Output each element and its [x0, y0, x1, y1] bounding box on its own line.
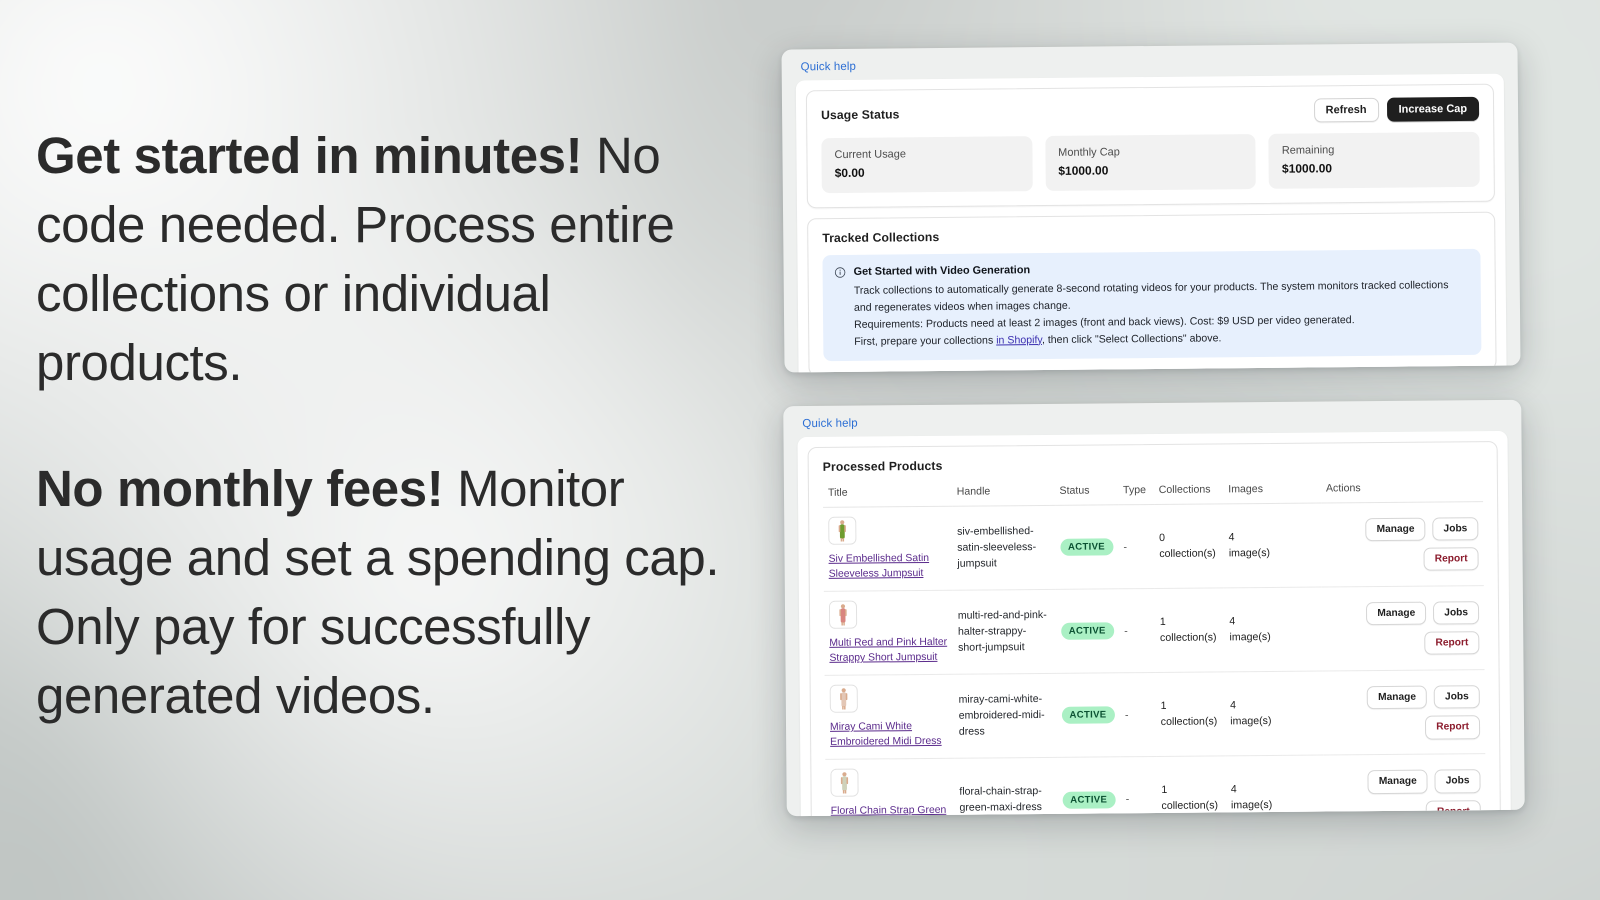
- cell-handle: miray-cami-white-embroidered-midi-dress: [953, 674, 1057, 759]
- column-header-actions: Actions: [1321, 474, 1483, 503]
- collections-count: 0 collection(s): [1159, 532, 1216, 560]
- product-title-link[interactable]: Multi Red and Pink Halter Strappy Short …: [829, 635, 948, 666]
- shopify-link[interactable]: in Shopify: [996, 334, 1042, 346]
- cell-images: 4 image(s): [1226, 756, 1284, 816]
- info-circle-icon: [835, 265, 846, 283]
- row-actions: ManageJobsReport: [1326, 517, 1478, 572]
- banner-line-3-before: First, prepare your collections: [854, 334, 996, 347]
- jobs-button[interactable]: Jobs: [1434, 685, 1480, 709]
- tracked-collections-card: Tracked Collections Get Started with Vid…: [807, 212, 1496, 373]
- product-thumbnail[interactable]: [830, 769, 858, 797]
- increase-cap-button[interactable]: Increase Cap: [1386, 97, 1479, 122]
- cell-images: 4 image(s): [1225, 672, 1283, 757]
- usage-status-actions: Refresh Increase Cap: [1314, 97, 1480, 123]
- column-header-collections[interactable]: Collections: [1154, 476, 1224, 504]
- table-row: Siv Embellished Satin Sleeveless Jumpsui…: [823, 502, 1484, 592]
- table-row: Miray Cami White Embroidered Midi Dressm…: [825, 670, 1486, 760]
- column-header-spacer: [1280, 476, 1321, 504]
- usage-status-title: Usage Status: [821, 107, 900, 122]
- products-sheet: Processed Products Title Handle Status T…: [797, 431, 1511, 816]
- images-count: 4 image(s): [1230, 699, 1271, 727]
- report-button[interactable]: Report: [1424, 631, 1479, 655]
- jobs-button[interactable]: Jobs: [1432, 517, 1478, 541]
- manage-button[interactable]: Manage: [1367, 686, 1427, 710]
- cell-spacer: [1282, 671, 1323, 756]
- product-handle: floral-chain-strap-green-maxi-dress: [959, 785, 1042, 814]
- screenshot-stage: Get started in minutes! No code needed. …: [0, 0, 1600, 900]
- stat-label-current-usage: Current Usage: [834, 147, 1019, 161]
- cell-actions: ManageJobsReport: [1323, 754, 1486, 816]
- stat-label-remaining: Remaining: [1282, 143, 1467, 157]
- stat-remaining: Remaining $1000.00: [1269, 132, 1480, 189]
- banner-body: Get Started with Video Generation Track …: [854, 258, 1470, 350]
- cell-handle: siv-embellished-satin-sleeveless-jumpsui…: [952, 505, 1056, 590]
- product-title-link[interactable]: Siv Embellished Satin Sleeveless Jumpsui…: [828, 551, 947, 582]
- quick-help-link-top[interactable]: Quick help: [801, 55, 1504, 74]
- cell-title: Miray Cami White Embroidered Midi Dress: [825, 675, 954, 760]
- usage-status-card: Usage Status Refresh Increase Cap Curren…: [806, 84, 1495, 209]
- marketing-paragraph-1: Get started in minutes! No code needed. …: [36, 122, 766, 397]
- cell-status: ACTIVE: [1055, 589, 1119, 674]
- manage-button[interactable]: Manage: [1366, 602, 1426, 626]
- product-title-link[interactable]: Miray Cami White Embroidered Midi Dress: [830, 719, 949, 750]
- usage-sheet: Usage Status Refresh Increase Cap Curren…: [796, 74, 1507, 373]
- marketing-lead-1: Get started in minutes!: [36, 127, 582, 184]
- cell-actions: ManageJobsReport: [1321, 502, 1484, 588]
- jobs-button[interactable]: Jobs: [1435, 769, 1481, 793]
- cell-title: Floral Chain Strap Green Maxi Dress: [825, 759, 954, 816]
- cell-spacer: [1281, 587, 1322, 672]
- jobs-button[interactable]: Jobs: [1433, 601, 1479, 625]
- cell-collections: 1 collection(s): [1156, 756, 1226, 816]
- report-button[interactable]: Report: [1424, 547, 1479, 571]
- stat-value-remaining: $1000.00: [1282, 160, 1467, 176]
- stat-value-monthly-cap: $1000.00: [1058, 162, 1243, 178]
- processed-products-title: Processed Products: [823, 454, 1483, 474]
- cell-title: Siv Embellished Satin Sleeveless Jumpsui…: [823, 506, 952, 591]
- images-count: 4 image(s): [1229, 615, 1270, 643]
- product-handle: miray-cami-white-embroidered-midi-dress: [958, 693, 1044, 738]
- product-type: -: [1124, 625, 1128, 637]
- marketing-copy: Get started in minutes! No code needed. …: [36, 122, 766, 731]
- cell-collections: 1 collection(s): [1155, 588, 1225, 673]
- cell-type: -: [1120, 757, 1156, 816]
- product-type: -: [1126, 793, 1130, 805]
- cell-spacer: [1280, 503, 1321, 588]
- cell-status: ACTIVE: [1057, 757, 1121, 816]
- product-thumbnail[interactable]: [830, 685, 858, 713]
- images-count: 4 image(s): [1229, 531, 1270, 559]
- processed-products-card: Processed Products Title Handle Status T…: [808, 441, 1502, 816]
- report-button[interactable]: Report: [1425, 716, 1480, 740]
- product-thumbnail[interactable]: [829, 601, 857, 629]
- row-actions: ManageJobsReport: [1328, 769, 1480, 816]
- cell-collections: 1 collection(s): [1155, 672, 1225, 757]
- product-type: -: [1123, 541, 1127, 553]
- get-started-banner: Get Started with Video Generation Track …: [822, 249, 1481, 361]
- marketing-paragraph-2: No monthly fees! Monitor usage and set a…: [36, 455, 766, 730]
- status-badge: ACTIVE: [1062, 791, 1115, 808]
- column-header-status[interactable]: Status: [1054, 477, 1118, 505]
- usage-panel: Quick help Usage Status Refresh Increase…: [781, 42, 1520, 372]
- usage-status-header: Usage Status Refresh Increase Cap: [821, 97, 1479, 127]
- quick-help-link-bottom[interactable]: Quick help: [802, 412, 1507, 430]
- products-table-body: Siv Embellished Satin Sleeveless Jumpsui…: [823, 502, 1486, 817]
- status-badge: ACTIVE: [1061, 623, 1114, 640]
- marketing-lead-2: No monthly fees!: [36, 460, 443, 517]
- stat-current-usage: Current Usage $0.00: [821, 136, 1032, 193]
- product-title-link[interactable]: Floral Chain Strap Green Maxi Dress: [831, 803, 950, 816]
- cell-actions: ManageJobsReport: [1322, 586, 1485, 672]
- product-thumbnail[interactable]: [828, 517, 856, 545]
- status-badge: ACTIVE: [1061, 707, 1114, 724]
- product-type: -: [1125, 709, 1129, 721]
- table-row: Floral Chain Strap Green Maxi Dressflora…: [825, 754, 1486, 816]
- cell-type: -: [1120, 673, 1156, 757]
- cell-handle: floral-chain-strap-green-maxi-dress: [954, 758, 1058, 816]
- cell-images: 4 image(s): [1224, 588, 1282, 673]
- cell-status: ACTIVE: [1056, 673, 1120, 758]
- table-row: Multi Red and Pink Halter Strappy Short …: [824, 586, 1485, 676]
- products-panel: Quick help Processed Products Title Hand…: [783, 400, 1525, 816]
- usage-stats: Current Usage $0.00 Monthly Cap $1000.00…: [821, 132, 1479, 193]
- cell-title: Multi Red and Pink Halter Strappy Short …: [824, 590, 953, 675]
- refresh-button[interactable]: Refresh: [1314, 98, 1379, 123]
- images-count: 4 image(s): [1231, 783, 1272, 811]
- cell-type: -: [1119, 589, 1155, 673]
- manage-button[interactable]: Manage: [1366, 517, 1426, 541]
- column-header-handle[interactable]: Handle: [952, 478, 1055, 506]
- cell-collections: 0 collection(s): [1154, 504, 1224, 589]
- column-header-title[interactable]: Title: [823, 479, 952, 508]
- products-table: Title Handle Status Type Collections Ima…: [823, 474, 1486, 816]
- banner-line-3-after: , then click "Select Collections" above.: [1042, 332, 1222, 346]
- status-badge: ACTIVE: [1060, 538, 1113, 555]
- column-header-images[interactable]: Images: [1223, 476, 1280, 504]
- cell-type: -: [1118, 504, 1154, 588]
- product-handle: multi-red-and-pink-halter-strappy-short-…: [958, 609, 1047, 654]
- stat-label-monthly-cap: Monthly Cap: [1058, 145, 1243, 159]
- cell-status: ACTIVE: [1055, 505, 1119, 590]
- collections-count: 1 collection(s): [1160, 616, 1217, 644]
- stat-value-current-usage: $0.00: [835, 164, 1020, 180]
- cell-handle: multi-red-and-pink-halter-strappy-short-…: [953, 590, 1057, 675]
- row-actions: ManageJobsReport: [1327, 601, 1479, 656]
- row-actions: ManageJobsReport: [1328, 685, 1480, 740]
- product-handle: siv-embellished-satin-sleeveless-jumpsui…: [957, 525, 1036, 569]
- cell-spacer: [1283, 755, 1324, 816]
- tracked-collections-title: Tracked Collections: [822, 225, 1480, 245]
- collections-count: 1 collection(s): [1161, 700, 1218, 728]
- cell-actions: ManageJobsReport: [1323, 670, 1486, 756]
- collections-count: 1 collection(s): [1161, 784, 1218, 812]
- cell-images: 4 image(s): [1223, 503, 1281, 588]
- column-header-type[interactable]: Type: [1118, 477, 1154, 505]
- manage-button[interactable]: Manage: [1368, 770, 1428, 794]
- stat-monthly-cap: Monthly Cap $1000.00: [1045, 134, 1256, 191]
